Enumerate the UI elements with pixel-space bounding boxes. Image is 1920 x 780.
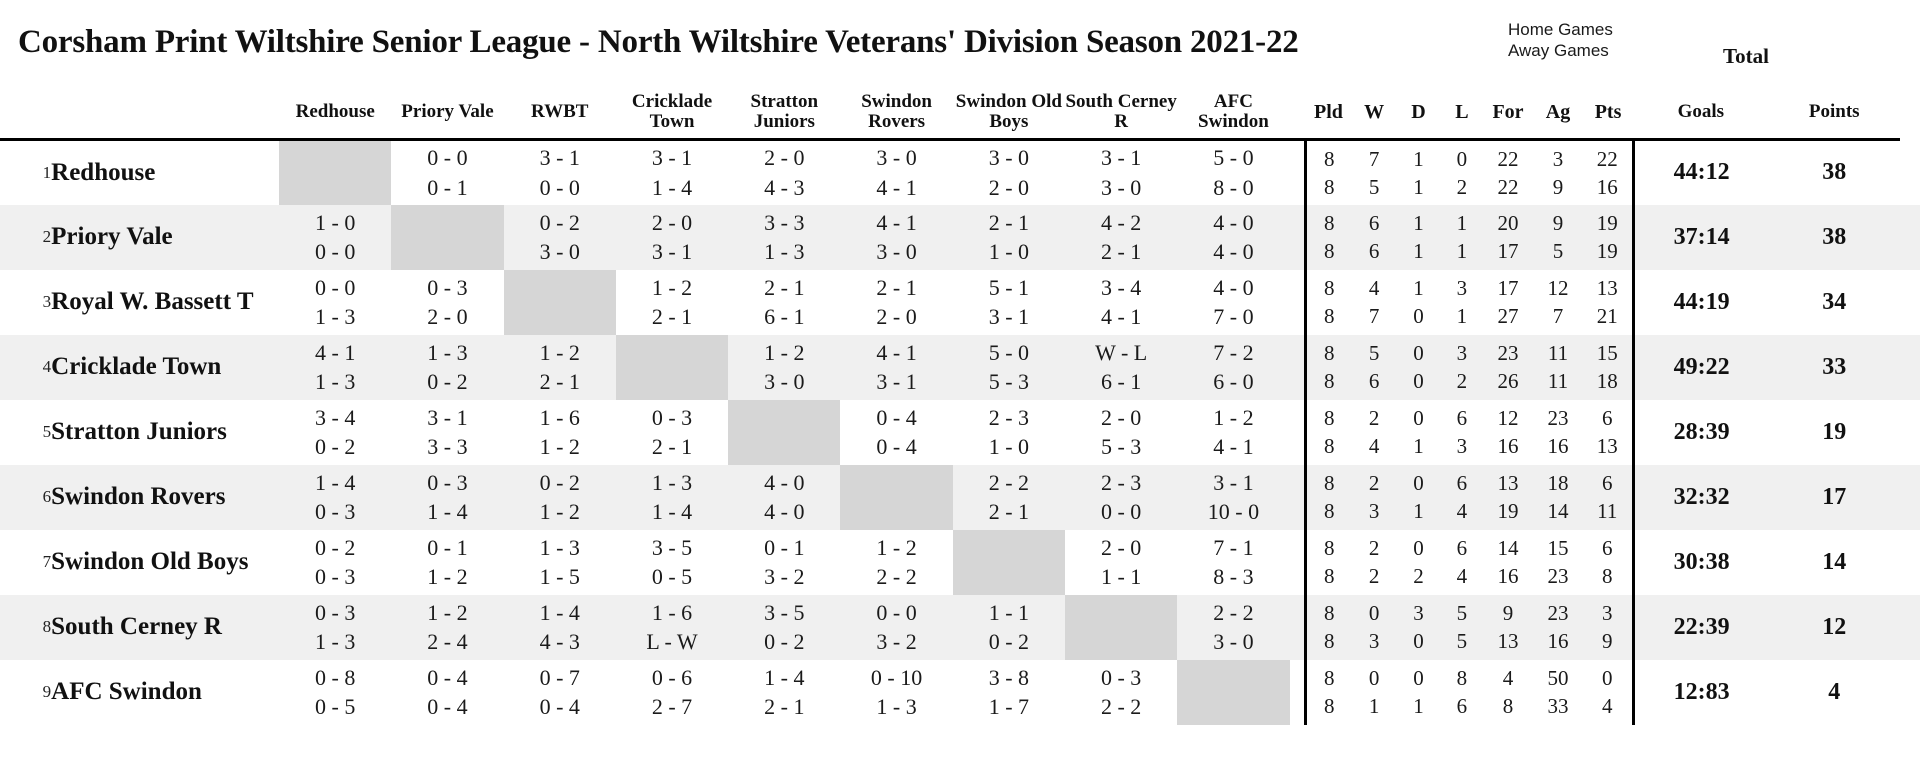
home-result: 4 - 1 [840,338,952,367]
stat-header-l: L [1441,86,1483,138]
away-l: 1 [1441,302,1483,330]
stat-cell-d: 10 [1396,270,1440,335]
result-cell: 0 - 32 - 1 [616,400,728,465]
result-cell: 5 - 08 - 0 [1177,140,1289,205]
result-cell: 0 - 13 - 2 [728,530,840,595]
table-row: 5Stratton Juniors3 - 40 - 23 - 13 - 31 -… [0,400,1920,465]
away-result: 1 - 2 [391,562,503,591]
result-cell: 0 - 31 - 4 [391,465,503,530]
home-pld: 8 [1307,274,1352,302]
home-result: 3 - 4 [1065,273,1177,302]
result-cell: 0 - 20 - 3 [279,530,391,595]
away-result: 0 - 0 [279,237,391,266]
total-goals: 30:38 [1633,530,1769,595]
home-result: 4 - 2 [1065,208,1177,237]
row-right-gutter [1900,465,1920,530]
home-ag: 11 [1533,339,1583,367]
row-rank: 5 [0,400,51,465]
diagonal-blank-cell [279,140,391,205]
total-points: 17 [1769,465,1900,530]
total-goals: 32:32 [1633,465,1769,530]
grid-stats-gap [1290,205,1306,270]
away-result: 2 - 2 [840,562,952,591]
home-l: 5 [1441,599,1483,627]
home-result: 1 - 2 [728,338,840,367]
home-result: 4 - 0 [1177,273,1289,302]
row-rank: 8 [0,595,51,660]
home-result: 2 - 1 [953,208,1065,237]
stat-cell-pts: 68 [1583,530,1633,595]
home-result: 3 - 1 [504,143,616,172]
result-cell: 3 - 31 - 3 [728,205,840,270]
home-result: 2 - 0 [1065,403,1177,432]
result-cell: 4 - 07 - 0 [1177,270,1289,335]
away-result: 8 - 0 [1177,173,1289,202]
home-result: 0 - 4 [391,663,503,692]
home-result: 0 - 2 [504,468,616,497]
away-ag: 16 [1533,627,1583,655]
result-cell: 4 - 13 - 0 [840,205,952,270]
away-result: 2 - 0 [953,173,1065,202]
team-name-cricklade-town[interactable]: Cricklade Town [51,335,279,400]
result-cell: 3 - 13 - 0 [1065,140,1177,205]
team-name-swindon-old-boys[interactable]: Swindon Old Boys [51,530,279,595]
home-result: 7 - 1 [1177,533,1289,562]
opponent-header-afc-swindon: AFC Swindon [1177,86,1289,138]
opponent-header-rwbt: RWBT [504,86,616,138]
home-result: 1 - 2 [504,338,616,367]
away-pts: 4 [1583,692,1632,720]
away-result: 1 - 0 [953,237,1065,266]
row-rank: 1 [0,140,51,205]
home-result: 3 - 0 [953,143,1065,172]
team-name-south-cerney-r[interactable]: South Cerney R [51,595,279,660]
away-pld: 8 [1307,627,1352,655]
grid-stats-gap [1290,465,1306,530]
table-row: 4Cricklade Town4 - 11 - 31 - 30 - 21 - 2… [0,335,1920,400]
stat-cell-pld: 88 [1305,400,1352,465]
result-cell: 3 - 02 - 0 [953,140,1065,205]
stat-cell-ag: 5033 [1533,660,1583,725]
stat-cell-l: 32 [1441,335,1483,400]
stat-cell-d: 01 [1396,660,1440,725]
table-row: 7Swindon Old Boys0 - 20 - 30 - 11 - 21 -… [0,530,1920,595]
diagonal-blank-cell [1065,595,1177,660]
away-for: 13 [1483,627,1533,655]
stat-header-ag: Ag [1533,86,1583,138]
away-for: 22 [1483,173,1533,201]
away-result: 4 - 1 [1177,432,1289,461]
away-result: 0 - 0 [504,173,616,202]
result-cell: 1 - 6L - W [616,595,728,660]
result-cell: 0 - 03 - 2 [840,595,952,660]
home-result: 7 - 2 [1177,338,1289,367]
away-for: 8 [1483,692,1533,720]
stat-cell-pld: 88 [1305,140,1352,205]
result-cell: 1 - 22 - 1 [616,270,728,335]
home-result: 1 - 4 [728,663,840,692]
away-result: 4 - 1 [1065,302,1177,331]
stat-cell-for: 1319 [1483,465,1533,530]
team-header [51,86,279,138]
result-cell: 0 - 32 - 0 [391,270,503,335]
result-cell: 3 - 110 - 0 [1177,465,1289,530]
away-result: 4 - 3 [728,173,840,202]
stat-cell-w: 24 [1352,400,1396,465]
home-result: 2 - 2 [953,468,1065,497]
home-d: 0 [1396,664,1440,692]
stat-cell-w: 47 [1352,270,1396,335]
team-name-afc-swindon[interactable]: AFC Swindon [51,660,279,725]
stat-cell-w: 75 [1352,140,1396,205]
stat-cell-pts: 1321 [1583,270,1633,335]
away-w: 6 [1352,237,1396,265]
opponent-header-priory-vale: Priory Vale [391,86,503,138]
result-cell: 7 - 26 - 0 [1177,335,1289,400]
home-l: 3 [1441,339,1483,367]
grid-stats-gap [1290,595,1306,660]
home-result: 2 - 3 [1065,468,1177,497]
league-results-table: Redhouse Priory Vale RWBT Cricklade Town… [0,86,1920,725]
away-w: 7 [1352,302,1396,330]
home-for: 14 [1483,534,1533,562]
stat-cell-for: 1727 [1483,270,1533,335]
stat-cell-pld: 88 [1305,530,1352,595]
home-result: 4 - 0 [728,468,840,497]
grid-stats-gap [1290,140,1306,205]
home-pld: 8 [1307,469,1352,497]
home-pts: 6 [1583,469,1632,497]
opponent-header-cricklade-town: Cricklade Town [616,86,728,138]
stat-cell-pts: 1919 [1583,205,1633,270]
right-gutter [1900,86,1920,138]
stat-cell-ag: 39 [1533,140,1583,205]
home-result: 2 - 3 [953,403,1065,432]
away-l: 2 [1441,173,1483,201]
total-goals: 49:22 [1633,335,1769,400]
result-cell: 1 - 23 - 0 [728,335,840,400]
away-pts: 19 [1583,237,1632,265]
stat-header-d: D [1396,86,1440,138]
diagonal-blank-cell [1177,660,1289,725]
result-cell: 4 - 04 - 0 [728,465,840,530]
result-cell: 0 - 80 - 5 [279,660,391,725]
away-for: 16 [1483,562,1533,590]
result-cell: 2 - 23 - 0 [1177,595,1289,660]
away-result: L - W [616,627,728,656]
home-result: 0 - 3 [391,273,503,302]
table-row: 6Swindon Rovers1 - 40 - 30 - 31 - 40 - 2… [0,465,1920,530]
home-ag: 23 [1533,404,1583,432]
away-result: 4 - 1 [840,173,952,202]
away-result: 1 - 7 [953,692,1065,721]
result-cell: 1 - 00 - 0 [279,205,391,270]
league-table-page: Corsham Print Wiltshire Senior League - … [0,0,1920,780]
home-for: 13 [1483,469,1533,497]
total-points: 14 [1769,530,1900,595]
result-cell: 4 - 13 - 1 [840,335,952,400]
away-result: 6 - 1 [1065,367,1177,396]
away-pts: 18 [1583,367,1632,395]
home-result: 2 - 0 [728,143,840,172]
result-cell: 1 - 22 - 2 [840,530,952,595]
home-for: 9 [1483,599,1533,627]
home-result: 1 - 2 [1177,403,1289,432]
result-cell: 0 - 70 - 4 [504,660,616,725]
team-name-royal-w-bassett-t[interactable]: Royal W. Bassett T [51,270,279,335]
stat-cell-ag: 1523 [1533,530,1583,595]
result-cell: 0 - 23 - 0 [504,205,616,270]
diagonal-blank-cell [391,205,503,270]
away-result: 2 - 1 [1065,237,1177,266]
away-result: 1 - 4 [616,173,728,202]
home-pld: 8 [1307,145,1352,173]
away-pts: 9 [1583,627,1632,655]
result-cell: 1 - 22 - 1 [504,335,616,400]
away-result: 3 - 3 [391,432,503,461]
grid-stats-gap [1290,270,1306,335]
away-result: 1 - 4 [616,497,728,526]
home-result: 0 - 4 [840,403,952,432]
opponent-header-south-cerney-r: South Cerney R [1065,86,1177,138]
home-result: 3 - 1 [616,143,728,172]
stat-cell-ag: 2316 [1533,595,1583,660]
home-pts: 3 [1583,599,1632,627]
home-result: 2 - 0 [1065,533,1177,562]
home-result: 2 - 1 [840,273,952,302]
stat-cell-for: 48 [1483,660,1533,725]
home-pts: 19 [1583,209,1632,237]
home-l: 8 [1441,664,1483,692]
result-cell: 1 - 31 - 4 [616,465,728,530]
away-pld: 8 [1307,562,1352,590]
result-cell: 7 - 18 - 3 [1177,530,1289,595]
home-result: 1 - 2 [616,273,728,302]
home-ag: 18 [1533,469,1583,497]
row-right-gutter [1900,660,1920,725]
row-rank: 6 [0,465,51,530]
away-d: 1 [1396,237,1440,265]
away-pld: 8 [1307,367,1352,395]
stat-cell-pld: 88 [1305,465,1352,530]
home-result: 1 - 3 [391,338,503,367]
result-cell: 2 - 03 - 1 [616,205,728,270]
away-result: 1 - 2 [504,497,616,526]
away-d: 1 [1396,432,1440,460]
result-cell: 3 - 04 - 1 [840,140,952,205]
home-l: 6 [1441,404,1483,432]
diagonal-blank-cell [953,530,1065,595]
result-cell: 3 - 81 - 7 [953,660,1065,725]
stat-cell-pld: 88 [1305,595,1352,660]
home-pld: 8 [1307,534,1352,562]
away-ag: 14 [1533,497,1583,525]
home-result: 0 - 0 [840,598,952,627]
home-result: 3 - 8 [953,663,1065,692]
result-cell: 3 - 50 - 5 [616,530,728,595]
home-result: 1 - 6 [504,403,616,432]
stat-cell-for: 1216 [1483,400,1533,465]
away-result: 0 - 2 [728,627,840,656]
grid-stats-gap [1290,335,1306,400]
home-d: 0 [1396,404,1440,432]
row-right-gutter [1900,140,1920,205]
stat-cell-w: 03 [1352,595,1396,660]
stat-cell-l: 02 [1441,140,1483,205]
home-away-legend: Home Games Away Games [1508,20,1613,61]
away-result: 2 - 1 [616,302,728,331]
result-cell: 2 - 22 - 1 [953,465,1065,530]
home-l: 3 [1441,274,1483,302]
stat-cell-l: 86 [1441,660,1483,725]
result-cell: 0 - 62 - 7 [616,660,728,725]
away-pts: 8 [1583,562,1632,590]
away-result: 1 - 1 [1065,562,1177,591]
team-name-stratton-juniors[interactable]: Stratton Juniors [51,400,279,465]
total-goals: 22:39 [1633,595,1769,660]
away-l: 2 [1441,367,1483,395]
home-result: 0 - 2 [504,208,616,237]
home-ag: 23 [1533,599,1583,627]
stat-cell-w: 23 [1352,465,1396,530]
away-pts: 13 [1583,432,1632,460]
home-result: 0 - 2 [279,533,391,562]
home-w: 2 [1352,534,1396,562]
result-cell: 0 - 11 - 2 [391,530,503,595]
stat-cell-d: 30 [1396,595,1440,660]
result-cell: 0 - 32 - 2 [1065,660,1177,725]
team-name-swindon-rovers[interactable]: Swindon Rovers [51,465,279,530]
home-w: 4 [1352,274,1396,302]
away-ag: 11 [1533,367,1583,395]
home-result: 0 - 0 [391,143,503,172]
away-result: 0 - 5 [279,692,391,721]
grid-stats-gap [1290,530,1306,595]
stat-cell-l: 55 [1441,595,1483,660]
stat-header-w: W [1352,86,1396,138]
team-name-priory-vale[interactable]: Priory Vale [51,205,279,270]
table-row: 3Royal W. Bassett T0 - 01 - 30 - 32 - 01… [0,270,1920,335]
total-points: 33 [1769,335,1900,400]
home-ag: 15 [1533,534,1583,562]
stat-cell-l: 11 [1441,205,1483,270]
stat-cell-for: 2222 [1483,140,1533,205]
result-cell: 2 - 12 - 0 [840,270,952,335]
stat-cell-ag: 1814 [1533,465,1583,530]
stat-cell-l: 64 [1441,530,1483,595]
row-right-gutter [1900,270,1920,335]
home-result: 0 - 3 [391,468,503,497]
diagonal-blank-cell [728,400,840,465]
table-row: 9AFC Swindon0 - 80 - 50 - 40 - 40 - 70 -… [0,660,1920,725]
stat-cell-pts: 39 [1583,595,1633,660]
away-result: 8 - 3 [1177,562,1289,591]
away-d: 1 [1396,497,1440,525]
home-for: 22 [1483,145,1533,173]
home-result: 4 - 1 [279,338,391,367]
away-result: 3 - 0 [728,367,840,396]
result-cell: 1 - 44 - 3 [504,595,616,660]
home-pts: 6 [1583,404,1632,432]
away-l: 4 [1441,497,1483,525]
row-right-gutter [1900,530,1920,595]
home-result: 0 - 8 [279,663,391,692]
result-cell: 2 - 01 - 1 [1065,530,1177,595]
away-pts: 16 [1583,173,1632,201]
stat-cell-for: 2326 [1483,335,1533,400]
home-pts: 13 [1583,274,1632,302]
home-d: 0 [1396,339,1440,367]
home-ag: 9 [1533,209,1583,237]
away-result: 5 - 3 [953,367,1065,396]
legend-away-games: Away Games [1508,41,1613,62]
stat-cell-pld: 88 [1305,660,1352,725]
result-cell: 2 - 04 - 3 [728,140,840,205]
away-result: 5 - 3 [1065,432,1177,461]
opponent-header-redhouse: Redhouse [279,86,391,138]
stat-cell-d: 11 [1396,205,1440,270]
away-ag: 7 [1533,302,1583,330]
stat-cell-w: 01 [1352,660,1396,725]
away-d: 2 [1396,562,1440,590]
away-l: 5 [1441,627,1483,655]
home-d: 1 [1396,274,1440,302]
legend-home-games: Home Games [1508,20,1613,41]
away-result: 0 - 3 [279,562,391,591]
total-group-header: Total [1723,44,1769,69]
away-d: 1 [1396,692,1440,720]
stat-cell-pld: 88 [1305,335,1352,400]
row-right-gutter [1900,400,1920,465]
table-row: 8South Cerney R0 - 31 - 31 - 22 - 41 - 4… [0,595,1920,660]
away-result: 1 - 5 [504,562,616,591]
home-result: 2 - 0 [616,208,728,237]
away-result: 1 - 2 [504,432,616,461]
home-result: 4 - 1 [840,208,952,237]
away-result: 2 - 0 [391,302,503,331]
away-pld: 8 [1307,237,1352,265]
away-result: 3 - 0 [840,237,952,266]
home-result: 5 - 0 [953,338,1065,367]
stat-cell-w: 56 [1352,335,1396,400]
stat-cell-d: 00 [1396,335,1440,400]
result-cell: 3 - 50 - 2 [728,595,840,660]
opponent-header-swindon-rovers: Swindon Rovers [840,86,952,138]
away-l: 3 [1441,432,1483,460]
home-result: 3 - 1 [1177,468,1289,497]
away-result: 3 - 1 [616,237,728,266]
home-result: W - L [1065,338,1177,367]
result-cell: 1 - 10 - 2 [953,595,1065,660]
home-pts: 6 [1583,534,1632,562]
home-result: 4 - 0 [1177,208,1289,237]
away-result: 2 - 7 [616,692,728,721]
opponent-header-stratton-juniors: Stratton Juniors [728,86,840,138]
result-cell: 1 - 30 - 2 [391,335,503,400]
away-result: 3 - 2 [840,627,952,656]
total-points: 12 [1769,595,1900,660]
home-d: 0 [1396,469,1440,497]
home-result: 3 - 4 [279,403,391,432]
home-d: 0 [1396,534,1440,562]
home-result: 5 - 1 [953,273,1065,302]
away-for: 19 [1483,497,1533,525]
home-w: 7 [1352,145,1396,173]
away-result: 1 - 3 [728,237,840,266]
home-result: 1 - 6 [616,598,728,627]
team-name-redhouse[interactable]: Redhouse [51,140,279,205]
away-result: 7 - 0 [1177,302,1289,331]
